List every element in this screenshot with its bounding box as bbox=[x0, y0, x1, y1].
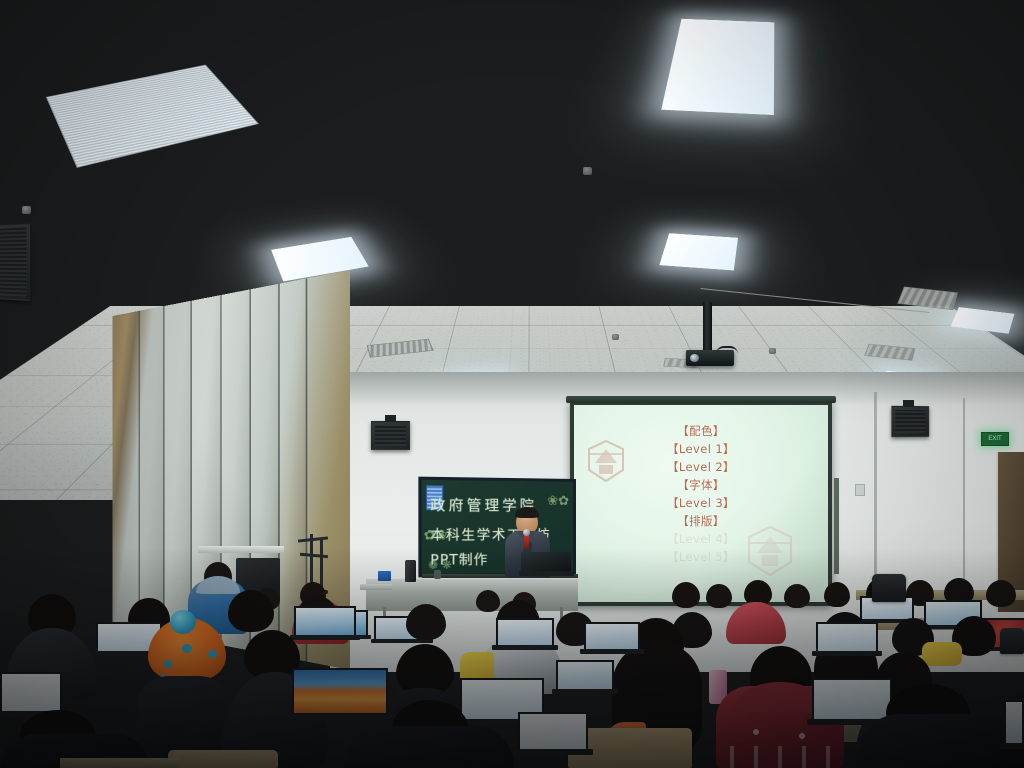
laptop-r3-2[interactable] bbox=[294, 606, 356, 640]
hat-dot-2 bbox=[208, 650, 217, 658]
presenter-hair bbox=[515, 507, 539, 518]
exit-sign-label: EXIT bbox=[988, 436, 1001, 442]
student-head-r5-2 bbox=[706, 584, 732, 608]
projection-screen-roller-housing bbox=[566, 396, 836, 403]
fire-sprinkler-icon-1 bbox=[22, 206, 31, 214]
student-head-r5-1 bbox=[672, 582, 700, 608]
rear-left-shelf bbox=[198, 546, 284, 553]
slide-line-5: 【Level 3】 bbox=[667, 495, 735, 511]
exit-sign: EXIT bbox=[981, 432, 1009, 446]
student-shoulders-red-r5b bbox=[726, 602, 786, 644]
fire-sprinkler-icon-4 bbox=[612, 334, 619, 340]
fire-sprinkler-icon-2 bbox=[583, 167, 592, 175]
laptop-r3-4[interactable] bbox=[584, 622, 640, 654]
hoodie-snowflake-1 bbox=[744, 720, 768, 744]
wall-speaker-left-bracket bbox=[385, 415, 396, 422]
student-front-left bbox=[344, 700, 514, 768]
student-head-r5-5 bbox=[824, 582, 850, 607]
ceiling-light-panel-3 bbox=[659, 233, 738, 270]
slide-content-list: 【配色】 【Level 1】 【Level 2】 【字体】 【Level 3】 … bbox=[574, 423, 828, 565]
slide-line-1: 【配色】 bbox=[677, 423, 725, 439]
projector-lens-icon bbox=[690, 354, 699, 362]
laptop-r1-1[interactable] bbox=[518, 712, 588, 756]
front-row-desk bbox=[60, 758, 180, 768]
chair-back-front-2 bbox=[168, 750, 278, 768]
student-head-r5-9 bbox=[986, 580, 1016, 607]
audience bbox=[0, 560, 1024, 768]
slide-line-3: 【Level 2】 bbox=[667, 459, 735, 475]
chalk-decoration-right: ❀✿ bbox=[547, 494, 569, 509]
slide-line-4: 【字体】 bbox=[677, 477, 725, 493]
projector-cable bbox=[716, 346, 738, 358]
chair-back-right-1 bbox=[872, 574, 906, 602]
student-head-r3-5 bbox=[406, 604, 446, 640]
ceiling-light-louver-off-icon bbox=[46, 65, 259, 168]
classroom-photo: EXIT bbox=[0, 0, 1024, 768]
hat-dot-3 bbox=[164, 660, 172, 668]
hat-dot-1 bbox=[182, 644, 192, 653]
chalk-decoration-left: ✿❀ bbox=[424, 528, 447, 544]
student-yellow-sleeve-2 bbox=[922, 642, 962, 666]
fire-sprinkler-icon-5 bbox=[769, 348, 776, 354]
slide-line-6: 【排版】 bbox=[677, 513, 725, 529]
hat-pompom-top bbox=[170, 610, 196, 634]
student-head-r5-4 bbox=[784, 584, 810, 608]
student-head-r5-12 bbox=[476, 590, 500, 612]
student-hat bbox=[138, 618, 234, 768]
student-front-right bbox=[856, 684, 1024, 768]
laptop-r2-3[interactable] bbox=[556, 660, 614, 694]
ceiling-projector bbox=[686, 302, 738, 374]
wall-speaker-left bbox=[371, 421, 410, 450]
wall-speaker-right-bracket bbox=[903, 400, 914, 407]
laptop-r1-2[interactable] bbox=[1004, 700, 1024, 750]
wall-plate-icon bbox=[855, 484, 865, 496]
student-head-r3-3 bbox=[228, 590, 274, 632]
hoodie-snowflake-2 bbox=[790, 724, 814, 748]
laptop-r3-3[interactable] bbox=[496, 618, 554, 650]
slide-line-2: 【Level 1】 bbox=[667, 441, 735, 457]
chair-back-right-2 bbox=[1000, 628, 1024, 654]
microphone-head-icon bbox=[523, 529, 530, 536]
projector-mount-pole bbox=[703, 302, 712, 354]
ceiling-light-panel-1 bbox=[661, 19, 774, 115]
hoodie-pattern-band bbox=[720, 746, 840, 768]
slide-line-7-faded: 【Level 4】 bbox=[667, 531, 735, 547]
wall-speaker-rear bbox=[0, 223, 30, 301]
wall-speaker-right bbox=[891, 406, 929, 437]
